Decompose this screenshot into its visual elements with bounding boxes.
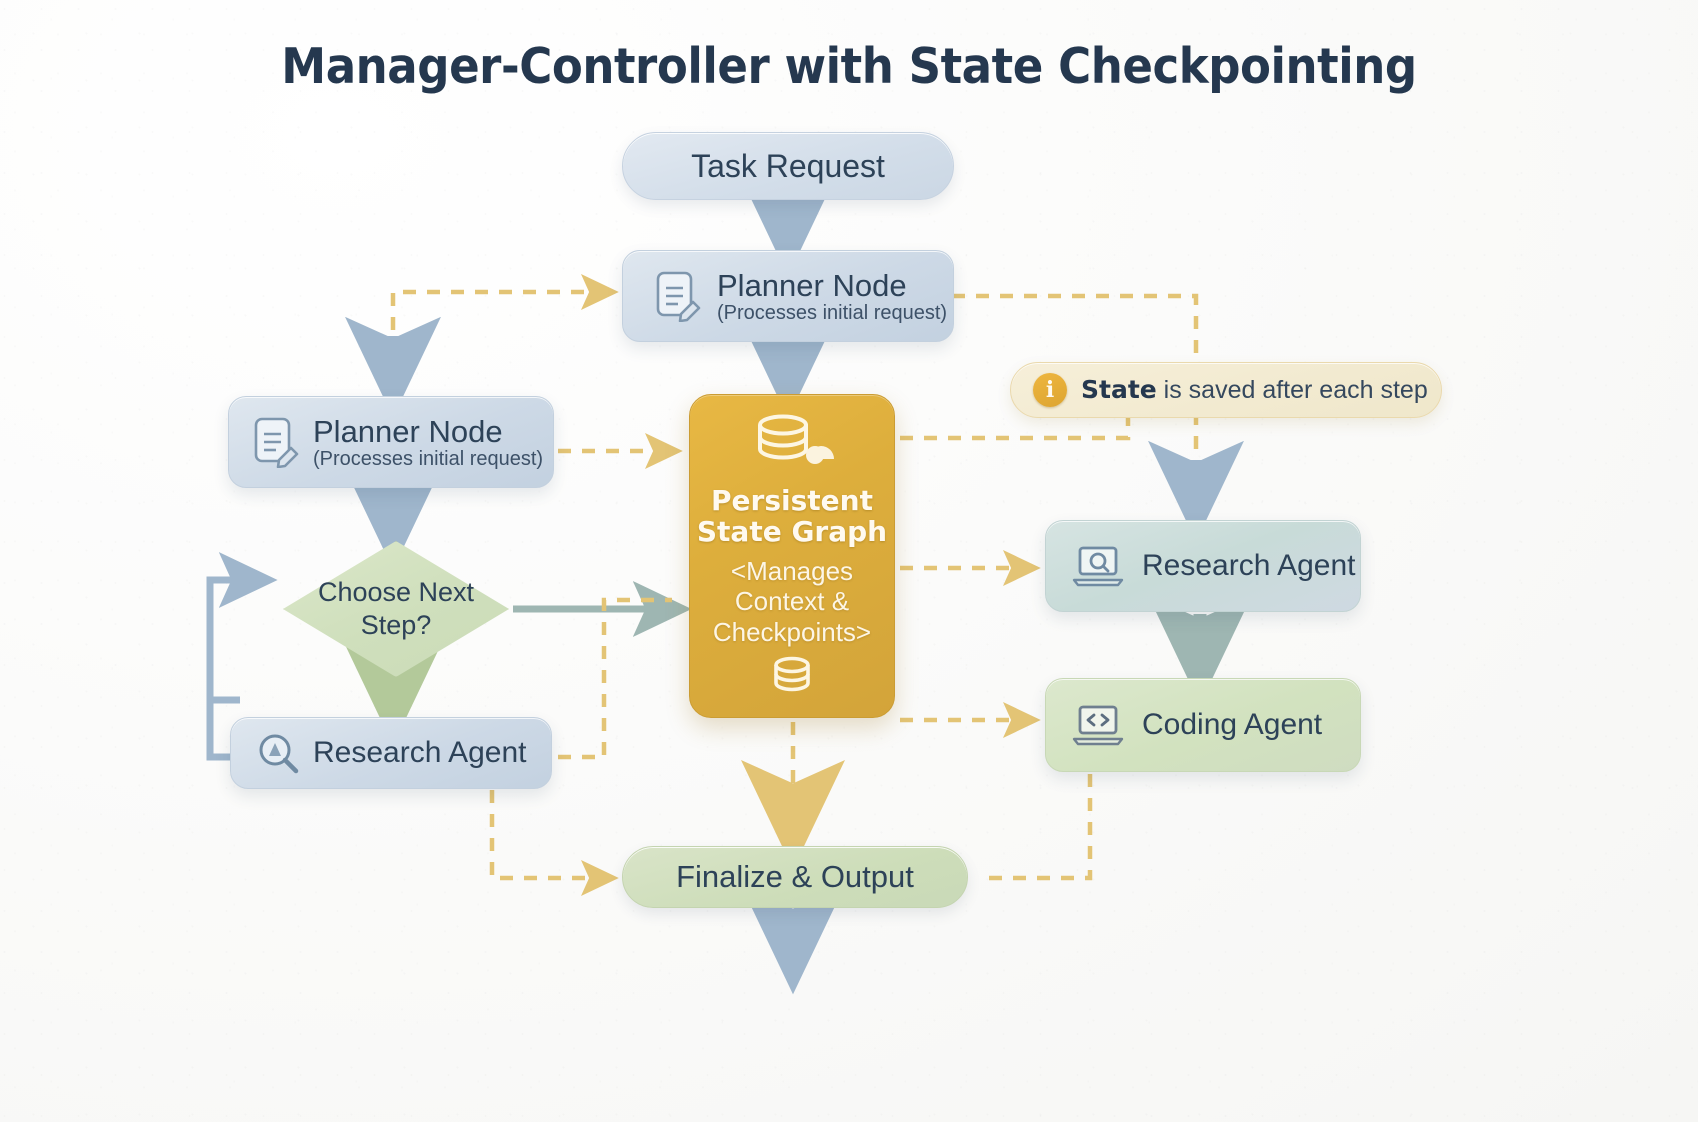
database-icon [767,656,817,696]
planner-left-label: Planner Node [313,414,543,450]
state-note-strong: State [1081,375,1157,404]
state-graph-sub-line1: <Manages [731,556,853,586]
laptop-search-icon [1072,544,1124,588]
node-task-request[interactable]: Task Request [622,132,954,200]
task-request-label: Task Request [691,148,885,185]
planner-top-label: Planner Node [717,268,947,304]
edge-research-left-to-finalize [492,790,608,878]
decision-label-line2: Step? [361,609,432,642]
node-persistent-state-graph[interactable]: Persistent State Graph <Manages Context … [689,394,895,718]
document-pencil-icon [655,270,701,322]
state-graph-sub-line3: Checkpoints> [713,617,871,647]
coding-right-label: Coding Agent [1142,708,1322,742]
node-research-agent-left[interactable]: Research Agent [230,717,552,789]
edge-coding-to-finalize [984,774,1090,878]
state-note-rest: is saved after each step [1157,376,1428,404]
node-planner-left[interactable]: Planner Node (Processes initial request) [228,396,554,488]
planner-left-sublabel: (Processes initial request) [313,448,543,471]
node-research-agent-right[interactable]: Research Agent [1045,520,1361,612]
diagram-canvas: Manager-Controller with State Checkpoint… [0,0,1698,1122]
database-cloud-icon [749,413,835,475]
node-decision-choose-next-step[interactable]: Choose Next Step? [283,541,509,677]
info-icon: i [1033,373,1067,407]
finalize-label: Finalize & Output [676,859,914,895]
decision-label-line1: Choose Next [318,576,474,609]
node-finalize-output[interactable]: Finalize & Output [622,846,968,908]
document-pencil-icon [253,416,299,468]
laptop-code-icon [1072,703,1124,747]
node-coding-agent[interactable]: Coding Agent [1045,678,1361,772]
node-planner-top[interactable]: Planner Node (Processes initial request) [622,250,954,342]
research-left-label: Research Agent [313,736,526,770]
state-graph-sub-line2: Context & [735,586,849,616]
research-right-label: Research Agent [1142,549,1355,583]
edge-dashed-to-planner-top [393,292,608,384]
state-graph-title-line2: State Graph [697,515,887,548]
magnifier-icon [257,732,299,774]
callout-state-saved: i State is saved after each step [1010,362,1442,418]
edge-research-left-to-stategraph [558,600,672,757]
state-graph-title-line1: Persistent [711,484,873,517]
planner-top-sublabel: (Processes initial request) [717,302,947,325]
